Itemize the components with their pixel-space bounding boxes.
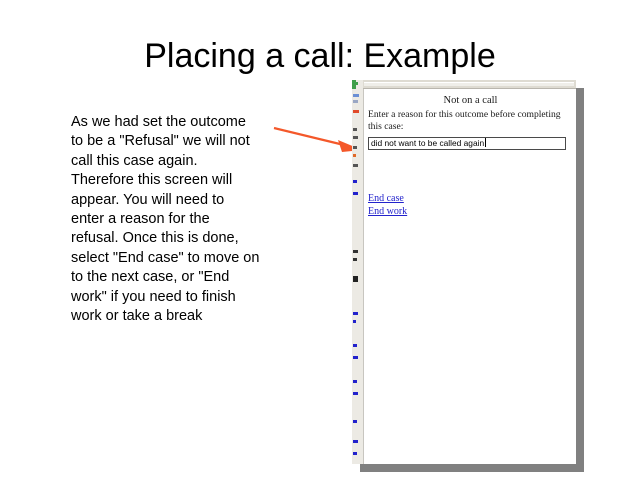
panel-instruction-text: Enter a reason for this outcome before c… xyxy=(368,109,576,132)
end-case-link[interactable]: End case xyxy=(368,193,404,204)
reason-input-value: did not want to be called again xyxy=(371,138,484,148)
cropped-left-column xyxy=(352,80,363,464)
strip-fragment xyxy=(353,276,358,282)
status-marker xyxy=(352,80,356,89)
strip-fragment xyxy=(353,420,357,423)
page-title: Placing a call: Example xyxy=(0,36,640,76)
presentation-slide: Placing a call: Example As we had set th… xyxy=(0,0,640,480)
slide-body-text: As we had set the outcome to be a "Refus… xyxy=(71,113,261,326)
strip-fragment xyxy=(353,94,359,97)
strip-fragment xyxy=(353,250,358,253)
strip-fragment xyxy=(353,128,357,131)
strip-fragment xyxy=(353,312,358,315)
callout-arrow-shaft xyxy=(274,128,344,145)
app-toolbar-groove xyxy=(364,82,574,86)
strip-fragment xyxy=(353,154,356,157)
callout-arrow-icon xyxy=(272,112,364,160)
panel-heading: Not on a call xyxy=(364,95,577,106)
strip-fragment xyxy=(353,136,358,139)
app-toolbar xyxy=(363,80,576,89)
strip-fragment xyxy=(353,164,358,167)
strip-fragment xyxy=(353,344,357,347)
strip-fragment xyxy=(353,100,358,103)
strip-fragment xyxy=(353,440,358,443)
strip-fragment xyxy=(353,192,358,195)
end-work-link[interactable]: End work xyxy=(368,206,407,217)
strip-fragment xyxy=(353,146,357,149)
text-caret xyxy=(485,138,486,147)
strip-fragment xyxy=(353,452,357,455)
strip-fragment xyxy=(353,258,357,261)
strip-fragment xyxy=(353,380,357,383)
strip-fragment xyxy=(353,392,358,395)
strip-fragment xyxy=(353,110,359,113)
strip-fragment xyxy=(353,356,358,359)
strip-fragment xyxy=(353,320,356,323)
screenshot-panel: Not on a call Enter a reason for this ou… xyxy=(352,80,576,464)
reason-input[interactable]: did not want to be called again xyxy=(368,137,566,150)
app-content-area: Not on a call Enter a reason for this ou… xyxy=(363,89,576,464)
strip-fragment xyxy=(353,180,357,183)
